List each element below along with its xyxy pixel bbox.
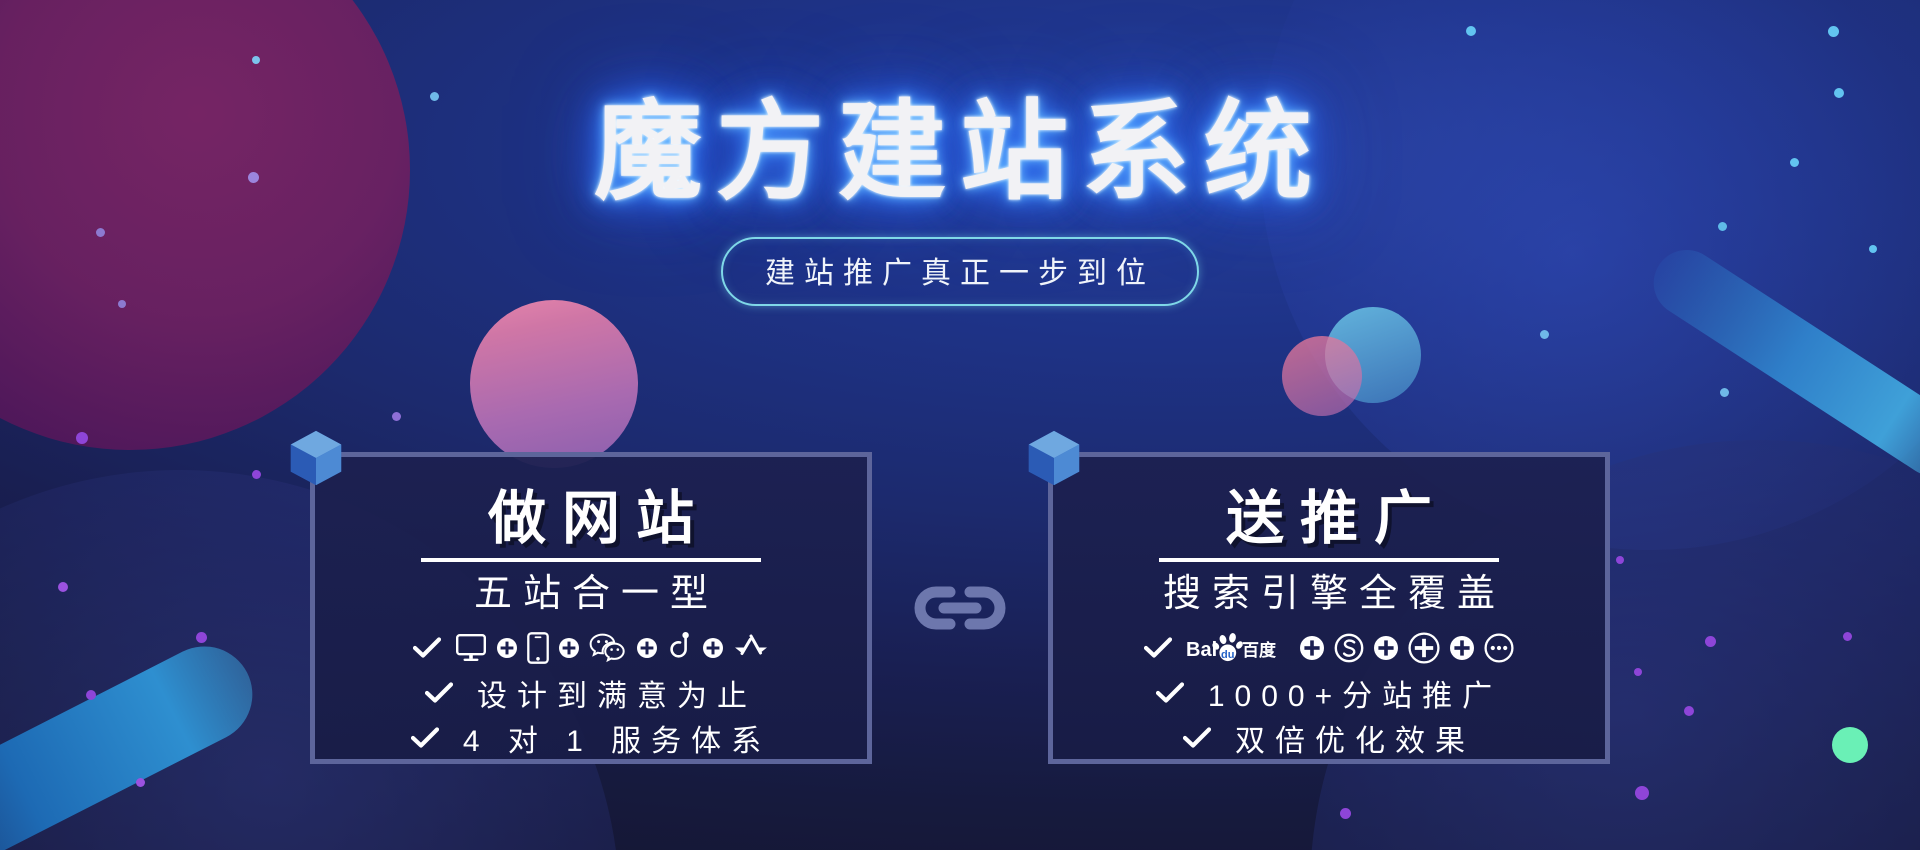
cube-icon [1023, 427, 1085, 489]
star-dot [1635, 786, 1649, 800]
douyin-icon [667, 632, 693, 664]
desktop-icon [455, 633, 487, 663]
star-dot [76, 432, 88, 444]
appstore-icon [733, 633, 769, 663]
platform-icon-strip [455, 632, 769, 664]
card-subtitle: 五站合一型 [315, 562, 867, 618]
feature-row: 4 对 1 服务体系 [411, 718, 771, 758]
link-icon [908, 580, 1012, 636]
baidu-icon: Bai du 百度 [1186, 633, 1290, 663]
feature-row-search-engines: Bai du 百度 [1144, 628, 1514, 668]
feature-list: 设计到满意为止 4 对 1 服务体系 [315, 628, 867, 758]
pink-sphere [470, 300, 638, 468]
feature-row: 设计到满意为止 [425, 673, 757, 713]
card-free-promotion: 送推广 搜索引擎全覆盖 Bai [1048, 452, 1610, 764]
cube-icon [285, 427, 347, 489]
feature-text: 设计到满意为止 [467, 671, 757, 715]
star-dot [1340, 808, 1351, 819]
svg-text:百度: 百度 [1242, 640, 1277, 660]
search-engine-icon-strip: Bai du 百度 [1186, 632, 1514, 664]
card-make-website: 做网站 五站合一型 [310, 452, 872, 764]
plus-icon [558, 637, 580, 659]
banner-header: 魔方建站系统 建站推广真正一步到位 [0, 0, 1920, 306]
feature-text: 1000+分站推广 [1198, 671, 1502, 715]
svg-text:du: du [1221, 649, 1234, 661]
sogou-icon [1334, 633, 1364, 663]
check-icon [411, 727, 439, 749]
subtitle-pill: 建站推广真正一步到位 [721, 237, 1199, 306]
card-title: 送推广 [1053, 457, 1605, 552]
plus-icon [636, 637, 658, 659]
star-dot [392, 412, 401, 421]
feature-text: 双倍优化效果 [1225, 716, 1475, 760]
connector-area [872, 452, 1048, 764]
feature-cards: 做网站 五站合一型 [0, 452, 1920, 764]
check-icon [425, 682, 453, 704]
feature-text: 4 对 1 服务体系 [453, 716, 771, 760]
check-icon [1183, 727, 1211, 749]
feature-row: 1000+分站推广 [1156, 673, 1502, 713]
plus-icon [1299, 635, 1325, 661]
mobile-icon [527, 632, 549, 664]
feature-row: 双倍优化效果 [1183, 718, 1475, 758]
promo-banner: 魔方建站系统 建站推广真正一步到位 做网站 五站合一型 [0, 0, 1920, 850]
page-title: 魔方建站系统 [0, 0, 1920, 215]
plus-icon [702, 637, 724, 659]
plus-icon [1373, 635, 1399, 661]
card-subtitle: 搜索引擎全覆盖 [1053, 562, 1605, 618]
plus-icon [496, 637, 518, 659]
check-icon [1156, 682, 1184, 704]
star-dot [1540, 330, 1549, 339]
card-title: 做网站 [315, 457, 867, 552]
feature-row-platforms [413, 628, 769, 668]
star-dot [1720, 388, 1729, 397]
check-icon [413, 637, 441, 659]
360-icon [1408, 632, 1440, 664]
pink-bubble [1282, 336, 1362, 416]
more-icon [1484, 633, 1514, 663]
check-icon [1144, 637, 1172, 659]
feature-list: Bai du 百度 [1053, 628, 1605, 758]
wechat-icon [589, 633, 627, 663]
svg-text:Bai: Bai [1186, 639, 1217, 661]
star-dot [136, 778, 145, 787]
plus-icon [1449, 635, 1475, 661]
